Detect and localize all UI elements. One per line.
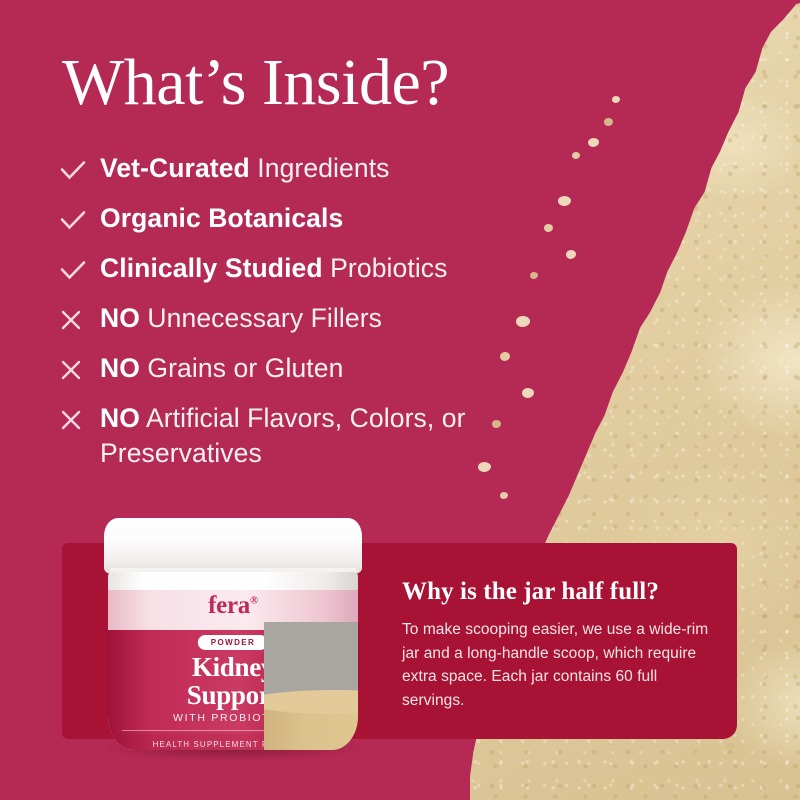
list-item-emphasis: NO — [100, 303, 140, 333]
powder-grain — [612, 96, 620, 103]
cross-icon — [60, 350, 100, 387]
cross-icon — [60, 300, 100, 337]
page-title: What’s Inside? — [62, 48, 449, 117]
list-item-emphasis: NO — [100, 403, 140, 433]
list-item-rest: Probiotics — [323, 253, 448, 283]
list-item-rest: Unnecessary Fillers — [140, 303, 382, 333]
jar-cutaway-overlay — [264, 622, 358, 750]
list-item-text: NO Grains or Gluten — [100, 350, 343, 386]
cross-icon — [60, 400, 100, 437]
list-item: Vet-Curated Ingredients — [60, 150, 540, 190]
form-badge: POWDER — [198, 635, 268, 650]
list-item-emphasis: NO — [100, 353, 140, 383]
powder-grain — [726, 742, 735, 750]
list-item-text: NO Artificial Flavors, Colors, or Preser… — [100, 400, 540, 471]
jar-body: fera® POWDER Kidney Support WITH PROBIOT… — [108, 572, 358, 750]
list-item-text: Clinically Studied Probiotics — [100, 250, 448, 286]
list-item-emphasis: Vet-Curated — [100, 153, 250, 183]
trademark-symbol: ® — [250, 595, 258, 607]
powder-grain — [572, 152, 580, 159]
infographic-canvas: What’s Inside? Vet-Curated Ingredients O… — [0, 0, 800, 800]
powder-grain — [566, 250, 576, 259]
jar-powder-surface — [264, 690, 358, 714]
list-item-rest: Grains or Gluten — [140, 353, 343, 383]
powder-grain — [544, 224, 553, 232]
list-item-emphasis: Organic Botanicals — [100, 203, 343, 233]
powder-grain — [558, 196, 571, 206]
list-item-text: NO Unnecessary Fillers — [100, 300, 382, 336]
benefit-list: Vet-Curated Ingredients Organic Botanica… — [60, 150, 540, 481]
info-card-title: Why is the jar half full? — [402, 578, 659, 606]
list-item: Clinically Studied Probiotics — [60, 250, 540, 290]
product-jar: fera® POWDER Kidney Support WITH PROBIOT… — [78, 510, 378, 760]
brand-name: fera — [208, 592, 250, 619]
list-item-text: Vet-Curated Ingredients — [100, 150, 390, 186]
info-card-body: To make scooping easier, we use a wide-r… — [402, 618, 722, 713]
list-item: Organic Botanicals — [60, 200, 540, 240]
powder-grain — [588, 138, 599, 147]
list-item: NO Unnecessary Fillers — [60, 300, 540, 340]
list-item-rest: Artificial Flavors, Colors, or Preservat… — [100, 403, 466, 468]
powder-grain — [604, 118, 613, 126]
list-item: NO Grains or Gluten — [60, 350, 540, 390]
list-item-emphasis: Clinically Studied — [100, 253, 323, 283]
list-item: NO Artificial Flavors, Colors, or Preser… — [60, 400, 540, 471]
check-icon — [60, 250, 100, 287]
list-item-rest: Ingredients — [250, 153, 390, 183]
powder-grain — [500, 492, 508, 499]
jar-lid — [104, 518, 362, 574]
check-icon — [60, 200, 100, 237]
list-item-text: Organic Botanicals — [100, 200, 343, 236]
brand-logo: fera® — [108, 592, 358, 620]
check-icon — [60, 150, 100, 187]
